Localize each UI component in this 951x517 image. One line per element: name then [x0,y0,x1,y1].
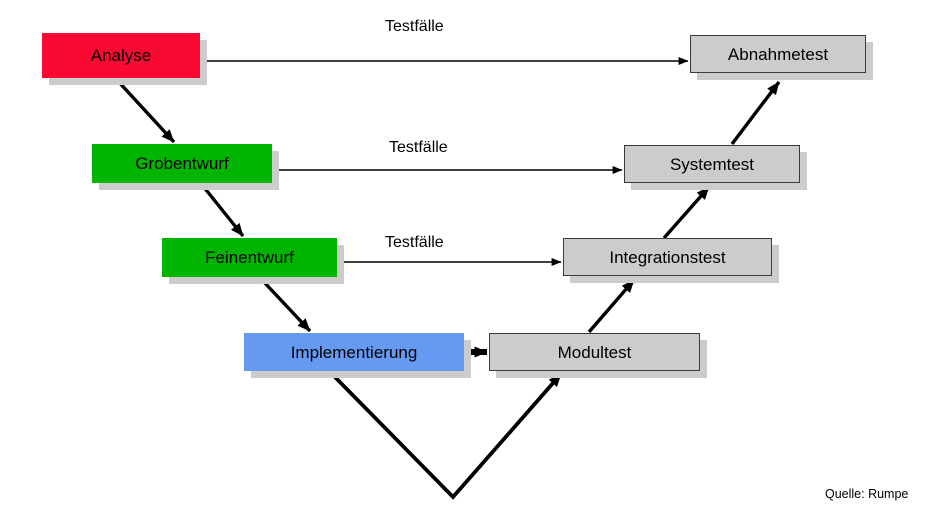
arrow-implementierung-v-to-modultest [330,372,561,497]
node-modultest[interactable]: Modultest [489,333,700,371]
arrow-analyse-to-grobentwurf [117,80,174,142]
node-analyse[interactable]: Analyse [42,33,200,78]
node-implementierung-label: Implementierung [291,344,418,361]
edge-label-testfaelle-grobentwurf: Testfälle [389,139,448,157]
arrow-feinentwurf-to-implementierung [263,281,310,331]
diagram-canvas: Analyse Grobentwurf Feinentwurf Implemen… [0,0,951,517]
node-feinentwurf-label: Feinentwurf [205,249,294,266]
edge-label-testfaelle-analyse: Testfälle [385,18,444,36]
node-integrationstest-label: Integrationstest [609,249,725,266]
edge-label-testfaelle-feinentwurf: Testfälle [385,234,444,252]
source-note: Quelle: Rumpe [825,487,908,501]
node-systemtest-label: Systemtest [670,156,754,173]
node-integrationstest[interactable]: Integrationstest [563,238,772,276]
node-analyse-label: Analyse [91,47,151,64]
node-grobentwurf[interactable]: Grobentwurf [92,144,272,183]
node-abnahmetest-label: Abnahmetest [728,46,828,63]
arrow-modultest-to-integrationstest [589,280,634,332]
node-modultest-label: Modultest [558,344,632,361]
arrow-grobentwurf-to-feinentwurf [203,186,243,236]
arrow-integrationstest-to-systemtest [664,187,709,238]
node-feinentwurf[interactable]: Feinentwurf [162,238,337,277]
node-grobentwurf-label: Grobentwurf [135,155,229,172]
arrow-systemtest-to-abnahmetest [732,82,779,144]
node-systemtest[interactable]: Systemtest [624,145,800,183]
node-abnahmetest[interactable]: Abnahmetest [690,35,866,73]
node-implementierung[interactable]: Implementierung [244,333,464,371]
